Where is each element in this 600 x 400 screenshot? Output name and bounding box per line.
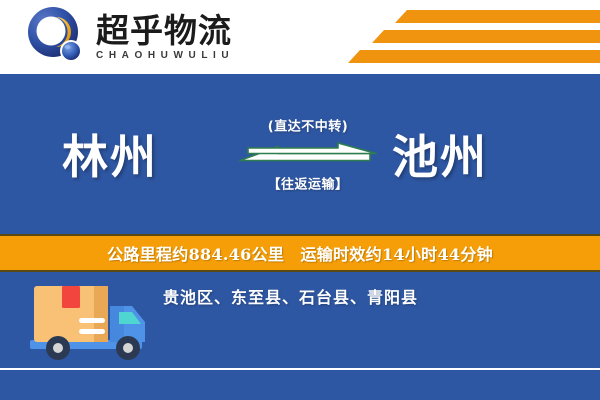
brand-name-pinyin: CHAOHUWULIU bbox=[96, 50, 234, 61]
bidirectional-arrow-icon bbox=[238, 139, 378, 169]
orange-speed-stripes-icon bbox=[342, 6, 600, 68]
coverage-section: 贵池区、东至县、石台县、青阳县 bbox=[0, 272, 600, 400]
stripe-3 bbox=[348, 50, 600, 63]
footer-divider bbox=[0, 368, 600, 370]
route-arrow-group: (直达不中转) 【往返运输】 bbox=[238, 116, 378, 193]
origin-city: 林州 bbox=[62, 121, 158, 187]
route-section: 林州 (直达不中转) 【往返运输】 池州 bbox=[0, 74, 600, 234]
stripe-1 bbox=[395, 10, 600, 23]
roundtrip-note: 【往返运输】 bbox=[238, 174, 378, 193]
coverage-districts: 贵池区、东至县、石台县、青阳县 bbox=[163, 284, 418, 308]
brand-logo-block[interactable]: 超乎物流 CHAOHUWULIU bbox=[26, 6, 234, 68]
distance-duration-text: 公路里程约884.46公里 运输时效约14小时44分钟 bbox=[107, 241, 493, 265]
direct-service-note: (直达不中转) bbox=[238, 116, 378, 135]
brand-name-cn: 超乎物流 bbox=[96, 13, 234, 49]
logistics-route-banner: 超乎物流 CHAOHUWULIU 林州 (直达不中转) 【往返运输】 bbox=[0, 0, 600, 400]
destination-city: 池州 bbox=[392, 121, 488, 187]
circle-crescent-logo-icon bbox=[26, 6, 88, 68]
delivery-truck-icon bbox=[24, 280, 156, 368]
brand-wordmark: 超乎物流 CHAOHUWULIU bbox=[96, 13, 234, 62]
stripe-2 bbox=[372, 30, 600, 43]
distance-duration-bar: 公路里程约884.46公里 运输时效约14小时44分钟 bbox=[0, 234, 600, 272]
banner-header: 超乎物流 CHAOHUWULIU bbox=[0, 0, 600, 74]
